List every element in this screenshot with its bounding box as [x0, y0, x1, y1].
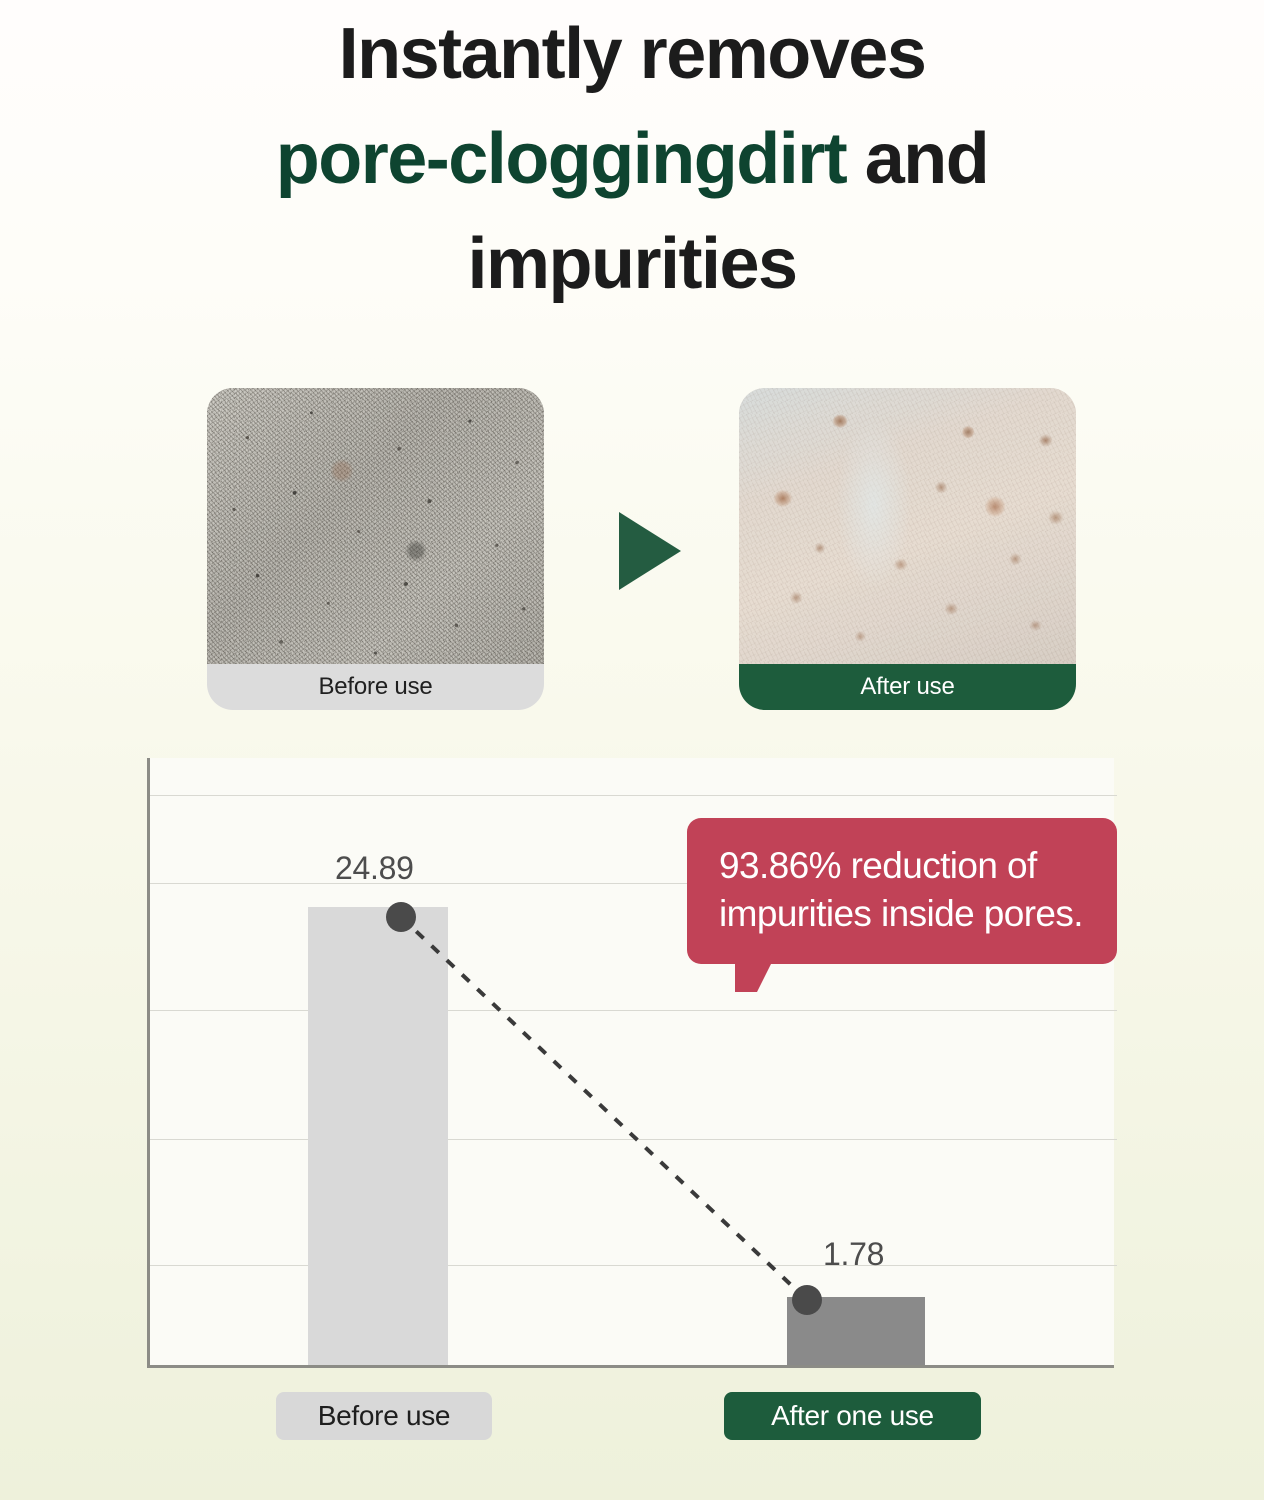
after-use-card: After use — [739, 388, 1076, 710]
headline-line-1: Instantly removes — [0, 2, 1264, 107]
before-use-card: Before use — [207, 388, 544, 710]
value-label-after: 1.78 — [823, 1236, 884, 1273]
headline-line-2-rest: and — [846, 119, 988, 199]
page-title: Instantly removes pore-cloggingdirt and … — [0, 2, 1264, 317]
callout-tail — [735, 964, 771, 992]
axis-label-before-use: Before use — [276, 1392, 492, 1440]
data-point-marker-after — [792, 1285, 822, 1315]
headline-highlight: pore-cloggingdirt — [276, 119, 846, 199]
data-point-marker-before — [386, 902, 416, 932]
before-after-comparison: Before use After use — [0, 388, 1264, 710]
reduction-callout-bubble: 93.86% reduction of impurities inside po… — [687, 818, 1117, 964]
axis-label-after-one-use: After one use — [724, 1392, 981, 1440]
value-label-before: 24.89 — [335, 850, 414, 887]
headline-line-3: impurities — [0, 212, 1264, 317]
right-triangle-arrow-icon — [619, 512, 681, 590]
skin-microscope-after-photo — [739, 388, 1076, 664]
after-use-caption: After use — [739, 664, 1076, 710]
headline-line-2: pore-cloggingdirt and — [0, 107, 1264, 212]
skin-microscope-before-photo — [207, 388, 544, 664]
callout-text: 93.86% reduction of impurities inside po… — [719, 842, 1089, 938]
before-use-caption: Before use — [207, 664, 544, 710]
